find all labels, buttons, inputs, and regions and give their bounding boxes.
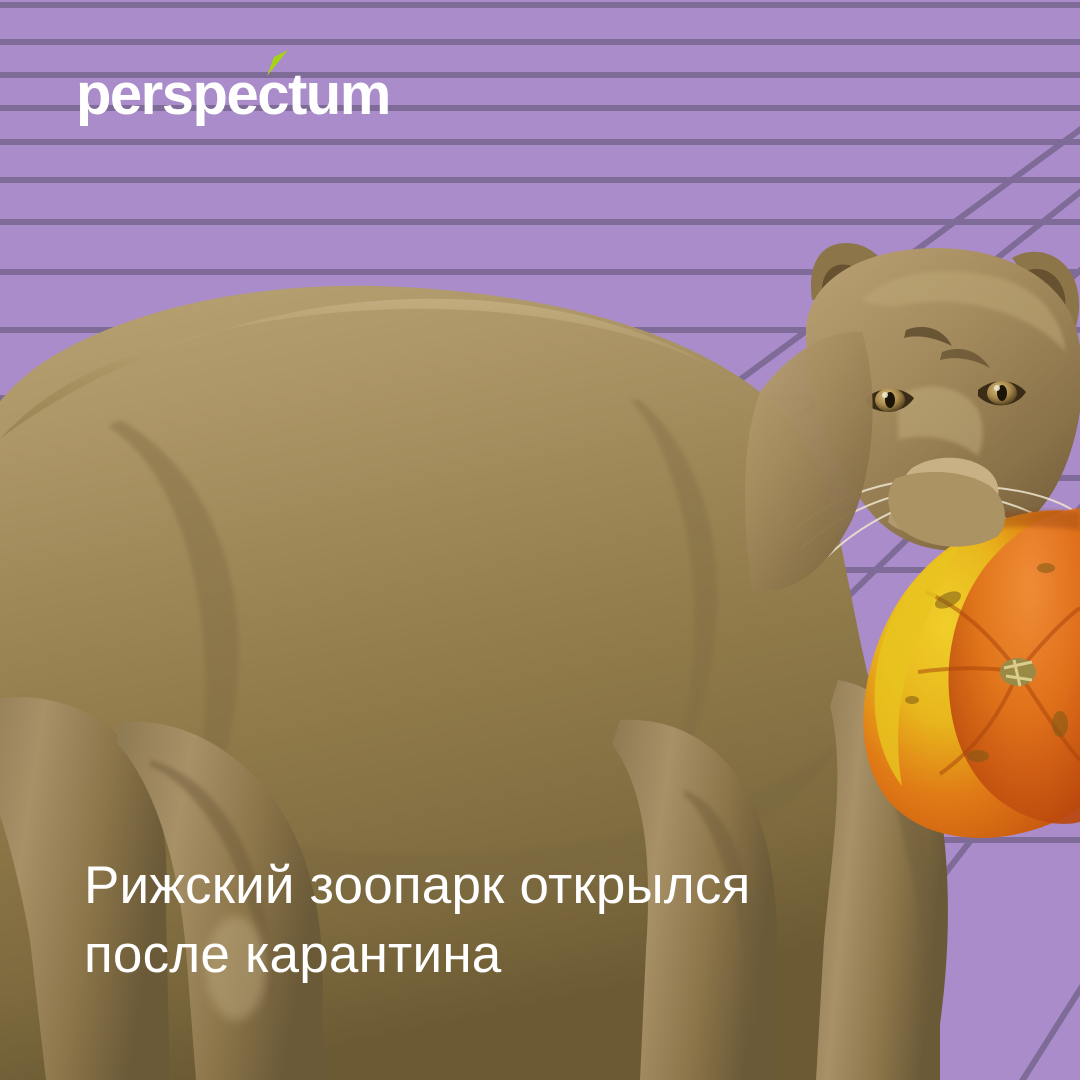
pumpkin <box>863 508 1080 838</box>
neck <box>745 332 873 591</box>
pumpkin-blossom-end <box>1000 658 1036 686</box>
hind-leg-highlight <box>206 916 266 1020</box>
lioness-illustration <box>0 0 1080 1080</box>
eye-left-glint <box>882 392 888 398</box>
poster-canvas: perspectum Рижский зоопарк открылся посл… <box>0 0 1080 1080</box>
lioness-photo <box>0 0 1080 1080</box>
eye-right-glint <box>994 385 1000 391</box>
